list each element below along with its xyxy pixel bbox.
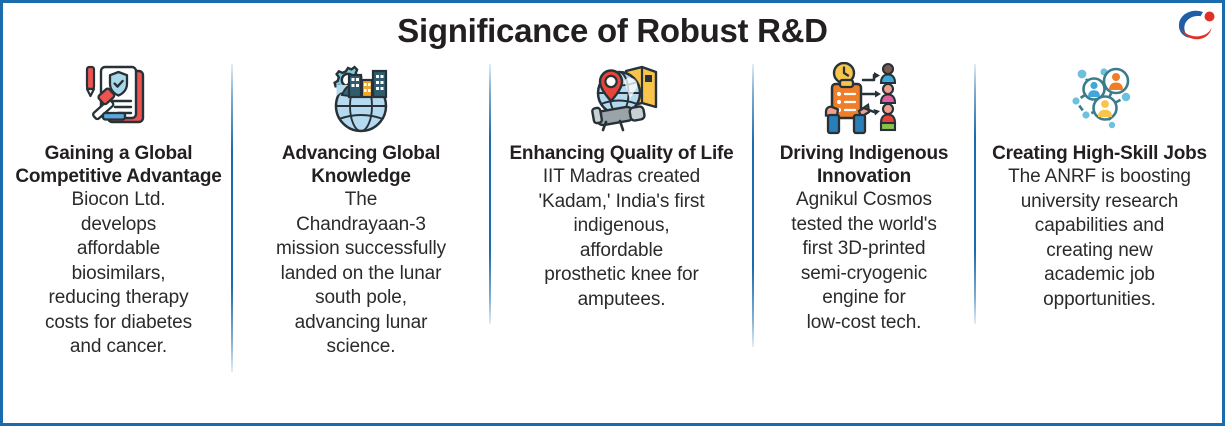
card-heading: Creating High-Skill Jobs <box>983 142 1216 165</box>
globe-map-telescope-icon <box>498 60 745 138</box>
card-body: Agnikul Cosmos tested the world's first … <box>761 188 967 335</box>
clipboard-clock-people-icon <box>761 60 967 138</box>
network-people-nodes-icon <box>983 60 1216 138</box>
brand-logo <box>1172 5 1218 45</box>
card-body: IIT Madras created 'Kadam,' India's firs… <box>498 165 745 312</box>
card-heading: Enhancing Quality of Life <box>498 142 745 165</box>
column-creating-high-skill-jobs: Creating High-Skill Jobs The ANRF is boo… <box>975 60 1224 312</box>
column-enhancing-quality-of-life: Enhancing Quality of Life IIT Madras cre… <box>490 60 753 312</box>
globe-city-gear-icon <box>240 60 482 138</box>
column-advancing-global-knowledge: Advancing Global Knowledge The Chandraya… <box>232 60 490 360</box>
card-body: The Chandrayaan-3 mission successfully l… <box>240 188 482 360</box>
card-heading: Gaining a Global Competitive Advantage <box>13 142 224 188</box>
page-title: Significance of Robust R&D <box>3 12 1222 50</box>
card-heading: Driving Indigenous Innovation <box>761 142 967 188</box>
card-heading: Advancing Global Knowledge <box>240 142 482 188</box>
card-body: The ANRF is boosting university research… <box>983 165 1216 312</box>
card-body: Biocon Ltd. develops affordable biosimil… <box>13 188 224 360</box>
infographic-card: Significance of Robust R&D <box>0 0 1225 426</box>
document-shield-gavel-icon <box>13 60 224 138</box>
columns-container: Gaining a Global Competitive Advantage B… <box>3 60 1222 360</box>
column-gaining-global-competitive-advantage: Gaining a Global Competitive Advantage B… <box>5 60 232 360</box>
column-driving-indigenous-innovation: Driving Indigenous Innovation Agnikul Co… <box>753 60 975 335</box>
